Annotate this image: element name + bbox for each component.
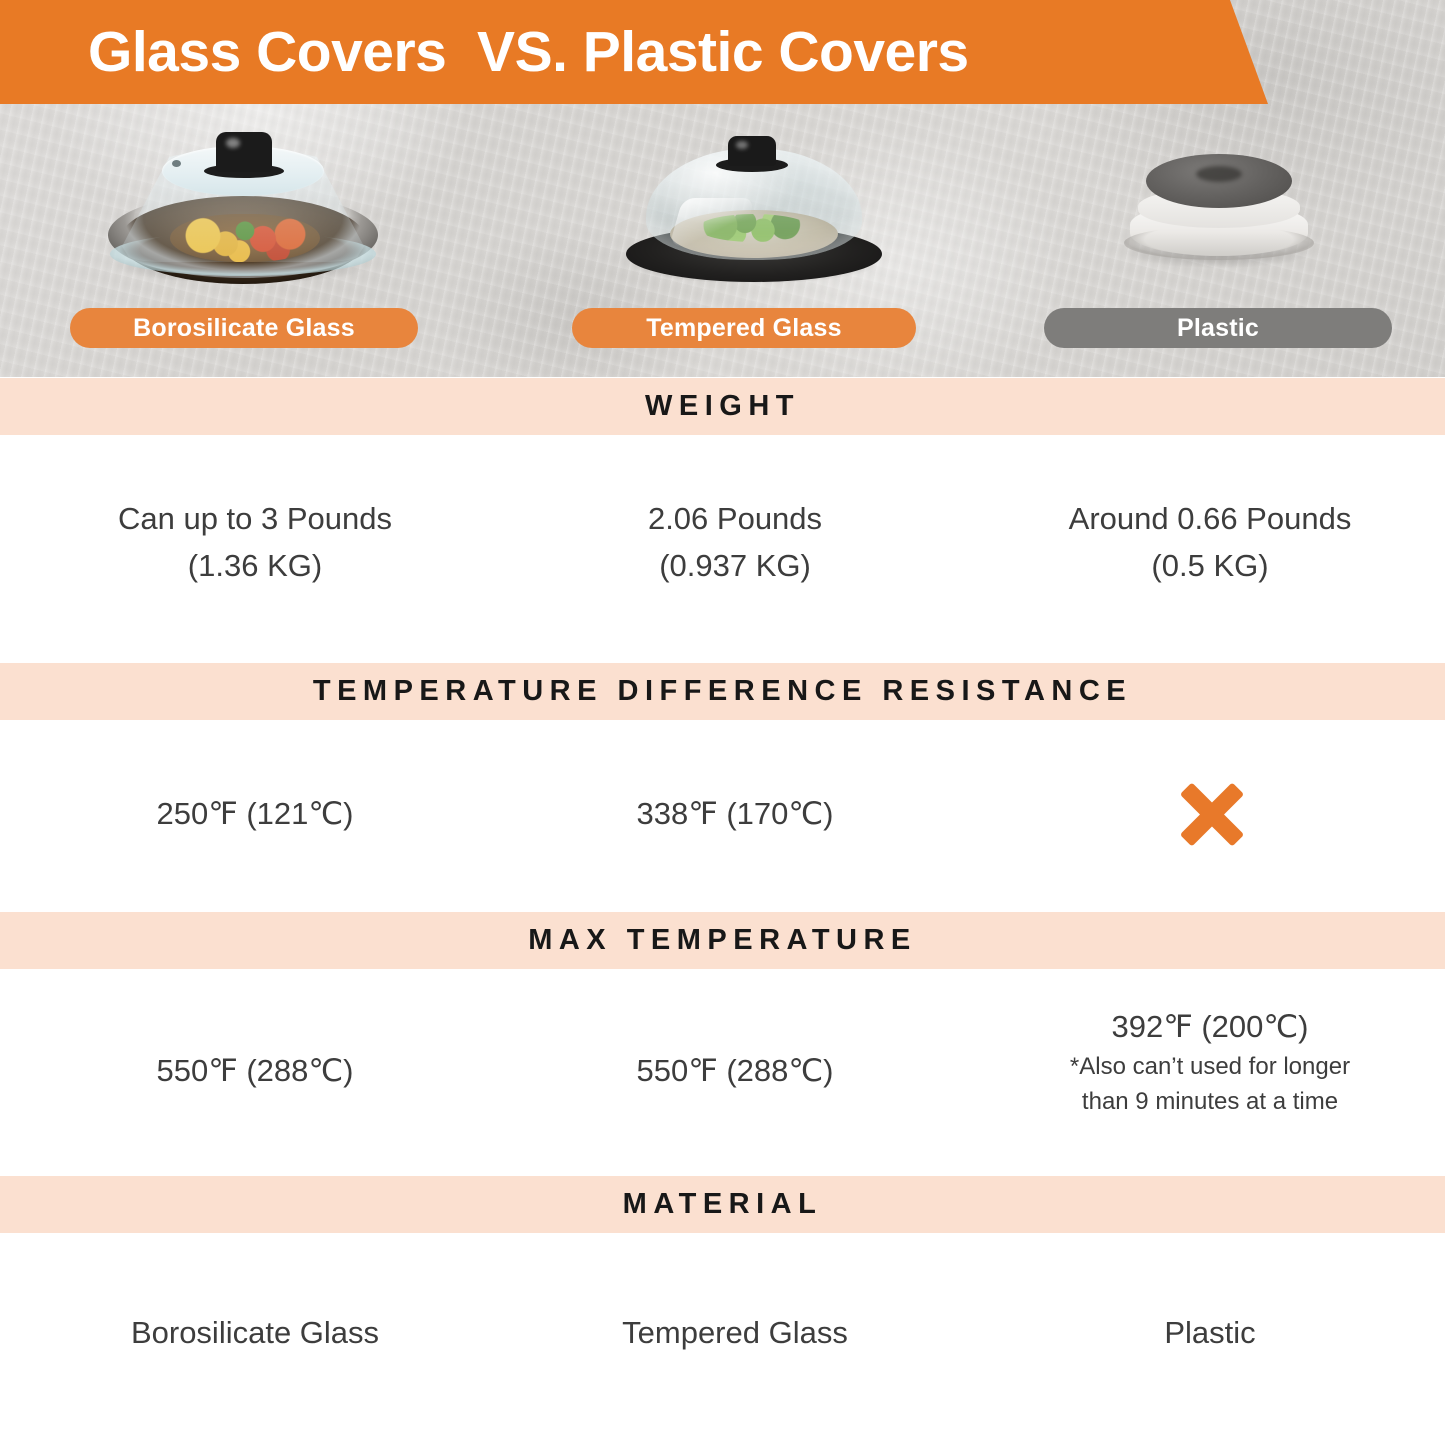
cell-value: Can up to 3 Pounds [118,501,392,536]
cell-value: 550℉ (288℃) [156,1053,353,1088]
cell-value: Plastic [1164,1315,1255,1350]
cell-maxtemp-borosilicate: 550℉ (288℃) [40,1047,470,1094]
cell-value: Around 0.66 Pounds [1069,501,1352,536]
product-label-text: Borosilicate Glass [133,314,355,343]
cell-tempdiff-tempered: 338℉ (170℃) [520,790,950,837]
knob-highlight [736,141,748,149]
cell-note-line-2: than 9 minutes at a time [995,1085,1425,1120]
section-row-max-temperature: 550℉ (288℃) 550℉ (288℃) 392℉ (200℃) *Als… [0,969,1445,1173]
product-image-borosilicate-glass [104,120,380,295]
cell-value: 2.06 Pounds [648,501,822,536]
title-banner: Glass Covers VS. Plastic Covers [0,0,1268,104]
cell-maxtemp-tempered: 550℉ (288℃) [520,1047,950,1094]
section-header-max-temperature: MAX TEMPERATURE [0,912,1445,969]
cell-material-borosilicate: Borosilicate Glass [40,1309,470,1356]
section-row-weight: Can up to 3 Pounds (1.36 KG) 2.06 Pounds… [0,435,1445,659]
section-title: MAX TEMPERATURE [528,924,917,957]
cell-value: 392℉ (200℃) [1111,1009,1308,1044]
product-image-plastic [1118,144,1318,272]
cell-weight-plastic: Around 0.66 Pounds (0.5 KG) [995,495,1425,589]
section-header-material: MATERIAL [0,1176,1445,1233]
product-label-tempered-glass: Tempered Glass [572,308,916,348]
comparison-infographic: Borosilicate Glass Tempered Glass Plasti… [0,0,1445,1445]
cell-weight-borosilicate: Can up to 3 Pounds (1.36 KG) [40,495,470,589]
glass-cover-edge [110,232,376,276]
product-label-text: Plastic [1177,314,1259,343]
cell-maxtemp-plastic: 392℉ (200℃) *Also can’t used for longer … [995,1003,1425,1120]
section-header-weight: WEIGHT [0,378,1445,435]
section-header-temperature-difference-resistance: TEMPERATURE DIFFERENCE RESISTANCE [0,663,1445,720]
cell-tempdiff-borosilicate: 250℉ (121℃) [40,790,470,837]
cell-value: 338℉ (170℃) [636,796,833,831]
cell-weight-tempered: 2.06 Pounds (0.937 KG) [520,495,950,589]
cell-subvalue: (1.36 KG) [40,542,470,589]
product-label-plastic: Plastic [1044,308,1392,348]
section-title: TEMPERATURE DIFFERENCE RESISTANCE [313,675,1132,708]
section-title: MATERIAL [623,1188,823,1221]
cell-value: 250℉ (121℃) [156,796,353,831]
x-mark-icon [1178,780,1246,848]
plastic-cover-base-ring [1124,226,1314,260]
vent-hole-icon [172,160,181,167]
cover-knob [216,132,272,172]
cell-subvalue: (0.5 KG) [995,542,1425,589]
cover-knob [728,136,776,166]
section-title: WEIGHT [645,390,800,423]
section-row-material: Borosilicate Glass Tempered Glass Plasti… [0,1233,1445,1445]
glass-glare [669,198,755,246]
cell-value: 550℉ (288℃) [636,1053,833,1088]
cell-subvalue: (0.937 KG) [520,542,950,589]
cell-material-tempered: Tempered Glass [520,1309,950,1356]
page-title: Glass Covers VS. Plastic Covers [0,24,969,81]
cell-note-line-1: *Also can’t used for longer [995,1050,1425,1085]
cell-material-plastic: Plastic [995,1309,1425,1356]
plastic-cover-knob [1196,166,1242,182]
product-image-tempered-glass [624,132,884,290]
cell-value: Tempered Glass [622,1315,848,1350]
knob-highlight [226,138,240,148]
product-label-borosilicate-glass: Borosilicate Glass [70,308,418,348]
product-label-text: Tempered Glass [646,314,841,343]
cell-value: Borosilicate Glass [131,1315,379,1350]
